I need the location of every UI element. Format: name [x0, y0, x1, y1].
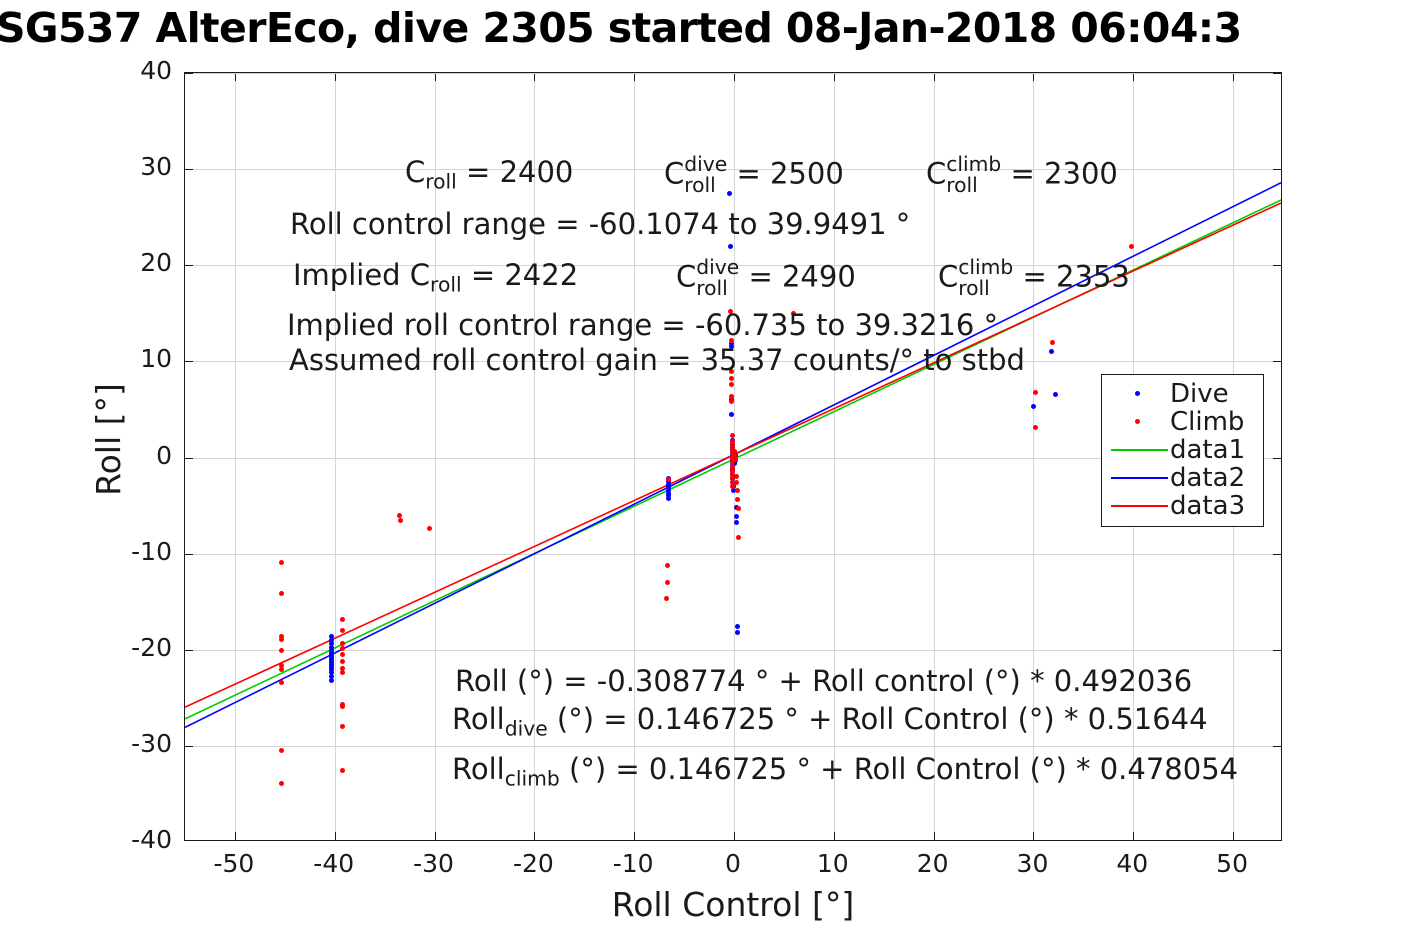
- c-roll-symbol: C: [405, 155, 425, 189]
- annotation-implied-c-dive: Cdiveroll = 2490: [676, 258, 856, 299]
- implied-c-climb-symbol: C: [938, 260, 958, 294]
- legend-line-icon: [1108, 468, 1170, 488]
- data-point-climb: [340, 659, 345, 664]
- x-tick-label: -20: [488, 849, 578, 878]
- legend-line-icon: [1108, 440, 1170, 460]
- c-dive-superscript: dive: [684, 154, 727, 175]
- implied-c-climb-supsub: climbroll: [958, 257, 1013, 298]
- data-point-climb: [730, 433, 735, 438]
- legend-item-label: Dive: [1170, 381, 1229, 407]
- data-point-climb: [1050, 340, 1055, 345]
- c-climb-supsub: climbroll: [946, 154, 1001, 195]
- implied-c-dive-supsub: diveroll: [696, 257, 739, 298]
- implied-c-climb-superscript: climb: [958, 257, 1013, 278]
- data-point-climb: [730, 484, 735, 489]
- data-point-dive: [329, 678, 334, 683]
- data-point-climb: [736, 506, 741, 511]
- x-tick-label: 0: [688, 849, 778, 878]
- data-point-dive: [735, 630, 740, 635]
- c-roll-subscript: roll: [425, 169, 457, 193]
- data-point-climb: [279, 591, 284, 596]
- data-point-dive: [1049, 349, 1054, 354]
- x-tick-label: 50: [1187, 849, 1277, 878]
- legend-swatch: [1135, 391, 1140, 396]
- data-point-dive: [729, 412, 734, 417]
- annotation-implied-c-climb: Cclimbroll = 2353: [938, 258, 1130, 299]
- eq-dive-subscript: dive: [505, 716, 548, 740]
- x-axis-label: Roll Control [°]: [184, 885, 1282, 924]
- legend[interactable]: DiveClimbdata1data2data3: [1101, 374, 1264, 527]
- data-point-climb: [340, 768, 345, 773]
- data-point-climb: [664, 596, 669, 601]
- eq-climb-rest: (°) = 0.146725 ° + Roll Control (°) * 0.…: [560, 752, 1238, 786]
- data-point-climb: [729, 382, 734, 387]
- c-dive-supsub: diveroll: [684, 154, 727, 195]
- c-dive-symbol: C: [664, 157, 684, 191]
- implied-c-dive-value: = 2490: [739, 260, 856, 294]
- x-tick-label: -40: [289, 849, 379, 878]
- legend-item-label: data3: [1170, 493, 1245, 519]
- data-point-climb: [340, 704, 345, 709]
- data-point-climb: [279, 648, 284, 653]
- legend-line-icon: [1108, 496, 1170, 516]
- data-point-climb: [340, 724, 345, 729]
- annotation-c-roll-dive: Cdiveroll = 2500: [664, 155, 844, 196]
- x-tick-label: -50: [189, 849, 279, 878]
- data-point-climb: [1033, 425, 1038, 430]
- y-axis-label: Roll [°]: [89, 55, 128, 824]
- y-tick-label: -40: [92, 825, 172, 854]
- eq-climb-subscript: climb: [505, 766, 560, 790]
- data-point-dive: [728, 244, 733, 249]
- data-point-climb: [279, 781, 284, 786]
- data-point-climb: [397, 513, 402, 518]
- annotation-equation-roll-climb: Rollclimb (°) = 0.146725 ° + Roll Contro…: [452, 752, 1238, 786]
- x-tick-label: 40: [1087, 849, 1177, 878]
- implied-c-roll-prefix: Implied C: [293, 258, 430, 292]
- implied-c-climb-subscript: roll: [958, 278, 1013, 299]
- annotation-c-roll-climb: Cclimbroll = 2300: [926, 155, 1118, 196]
- eq-dive-prefix: Roll: [452, 702, 505, 736]
- data-point-dive: [666, 496, 671, 501]
- x-tick-label: -10: [588, 849, 678, 878]
- data-point-climb: [1129, 244, 1134, 249]
- annotation-equation-roll: Roll (°) = -0.308774 ° + Roll control (°…: [455, 664, 1192, 698]
- data-point-climb: [279, 637, 284, 642]
- legend-item-data2[interactable]: data2: [1102, 464, 1263, 492]
- annotation-equation-roll-dive: Rolldive (°) = 0.146725 ° + Roll Control…: [452, 702, 1208, 736]
- data-point-climb: [279, 560, 284, 565]
- implied-c-climb-value: = 2353: [1013, 260, 1130, 294]
- legend-item-dive[interactable]: Dive: [1102, 380, 1263, 408]
- c-climb-subscript: roll: [946, 175, 1001, 196]
- implied-c-dive-symbol: C: [676, 260, 696, 294]
- eq-climb-prefix: Roll: [452, 752, 505, 786]
- data-point-climb: [279, 748, 284, 753]
- data-point-climb: [340, 641, 345, 646]
- implied-c-roll-value: = 2422: [462, 258, 579, 292]
- x-tick-label: 10: [788, 849, 878, 878]
- data-point-dive: [1031, 404, 1036, 409]
- data-point-climb: [734, 480, 739, 485]
- legend-item-label: Climb: [1170, 409, 1244, 435]
- legend-swatch: [1135, 419, 1140, 424]
- data-point-climb: [1033, 390, 1038, 395]
- data-point-dive: [735, 624, 740, 629]
- data-point-climb: [340, 628, 345, 633]
- data-point-climb: [729, 399, 734, 404]
- data-point-climb: [340, 652, 345, 657]
- annotation-implied-c-roll: Implied Croll = 2422: [293, 258, 578, 292]
- legend-swatch: [1111, 477, 1168, 479]
- data-point-climb: [666, 477, 671, 482]
- data-point-climb: [665, 580, 670, 585]
- figure-title: SG537 AlterEco, dive 2305 started 08-Jan…: [0, 2, 1417, 54]
- annotation-implied-roll-control-range: Implied roll control range = -60.735 to …: [287, 308, 998, 342]
- data-point-dive: [734, 520, 739, 525]
- legend-swatch: [1111, 505, 1168, 507]
- implied-c-roll-subscript: roll: [430, 272, 462, 296]
- data-point-dive: [1053, 392, 1058, 397]
- legend-item-data1[interactable]: data1: [1102, 436, 1263, 464]
- x-tick-label: -30: [389, 849, 479, 878]
- data-point-climb: [340, 646, 345, 651]
- legend-swatch: [1111, 449, 1168, 451]
- implied-c-dive-subscript: roll: [696, 278, 739, 299]
- c-roll-value: = 2400: [457, 155, 574, 189]
- annotation-roll-control-range: Roll control range = -60.1074 to 39.9491…: [290, 207, 910, 241]
- data-point-climb: [735, 497, 740, 502]
- data-point-climb: [340, 617, 345, 622]
- data-point-climb: [340, 670, 345, 675]
- c-climb-symbol: C: [926, 157, 946, 191]
- annotation-c-roll: Croll = 2400: [405, 155, 573, 189]
- c-dive-subscript: roll: [684, 175, 727, 196]
- legend-item-climb[interactable]: Climb: [1102, 408, 1263, 436]
- data-point-climb: [735, 488, 740, 493]
- data-point-climb: [279, 680, 284, 685]
- data-point-climb: [665, 563, 670, 568]
- eq-dive-rest: (°) = 0.146725 ° + Roll Control (°) * 0.…: [548, 702, 1208, 736]
- c-climb-superscript: climb: [946, 154, 1001, 175]
- annotation-assumed-gain: Assumed roll control gain = 35.37 counts…: [289, 343, 1025, 377]
- data-point-climb: [734, 474, 739, 479]
- legend-item-data3[interactable]: data3: [1102, 492, 1263, 520]
- data-point-climb: [736, 535, 741, 540]
- data-point-dive: [734, 514, 739, 519]
- implied-c-dive-superscript: dive: [696, 257, 739, 278]
- c-climb-value: = 2300: [1001, 157, 1118, 191]
- x-tick-label: 30: [987, 849, 1077, 878]
- c-dive-value: = 2500: [727, 157, 844, 191]
- data-point-climb: [398, 518, 403, 523]
- legend-item-label: data2: [1170, 465, 1245, 491]
- data-point-climb: [279, 667, 284, 672]
- legend-item-label: data1: [1170, 437, 1245, 463]
- x-tick-label: 20: [888, 849, 978, 878]
- data-point-climb: [427, 526, 432, 531]
- legend-marker-icon: [1108, 384, 1170, 404]
- legend-marker-icon: [1108, 412, 1170, 432]
